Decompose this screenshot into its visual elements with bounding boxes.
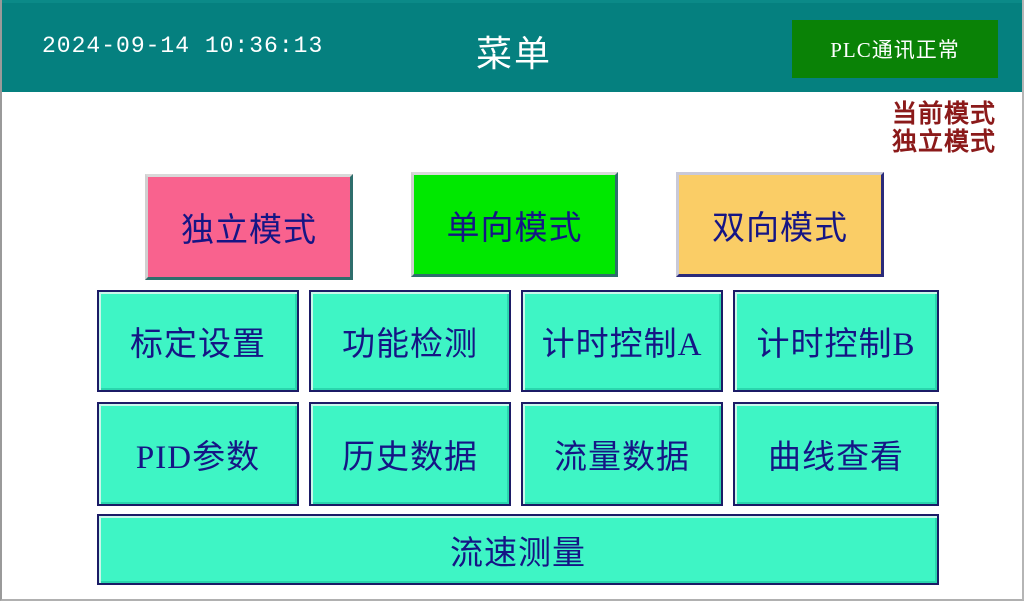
mode-button-independent[interactable]: 独立模式 — [145, 174, 353, 280]
current-mode-value: 独立模式 — [892, 129, 996, 157]
menu-button-function-test[interactable]: 功能检测 — [309, 290, 511, 392]
hmi-screen: 2024-09-14 10:36:13 菜单 PLC通讯正常 当前模式 独立模式… — [0, 0, 1024, 601]
menu-button-velocity-measurement[interactable]: 流速测量 — [97, 514, 939, 585]
header-bar: 2024-09-14 10:36:13 菜单 PLC通讯正常 — [2, 0, 1024, 92]
menu-button-timer-control-b[interactable]: 计时控制B — [733, 290, 939, 392]
status-badge-plc: PLC通讯正常 — [792, 20, 998, 78]
menu-button-history-data[interactable]: 历史数据 — [309, 402, 511, 506]
menu-button-flow-data[interactable]: 流量数据 — [521, 402, 723, 506]
menu-button-curve-view[interactable]: 曲线查看 — [733, 402, 939, 506]
menu-button-timer-control-a[interactable]: 计时控制A — [521, 290, 723, 392]
menu-button-calibration-settings[interactable]: 标定设置 — [97, 290, 299, 392]
menu-button-pid-parameters[interactable]: PID参数 — [97, 402, 299, 506]
current-mode-label: 当前模式 — [892, 101, 996, 129]
mode-button-bidirectional[interactable]: 双向模式 — [676, 172, 884, 277]
mode-button-unidirectional[interactable]: 单向模式 — [411, 172, 618, 277]
current-mode-indicator: 当前模式 独立模式 — [892, 101, 996, 157]
